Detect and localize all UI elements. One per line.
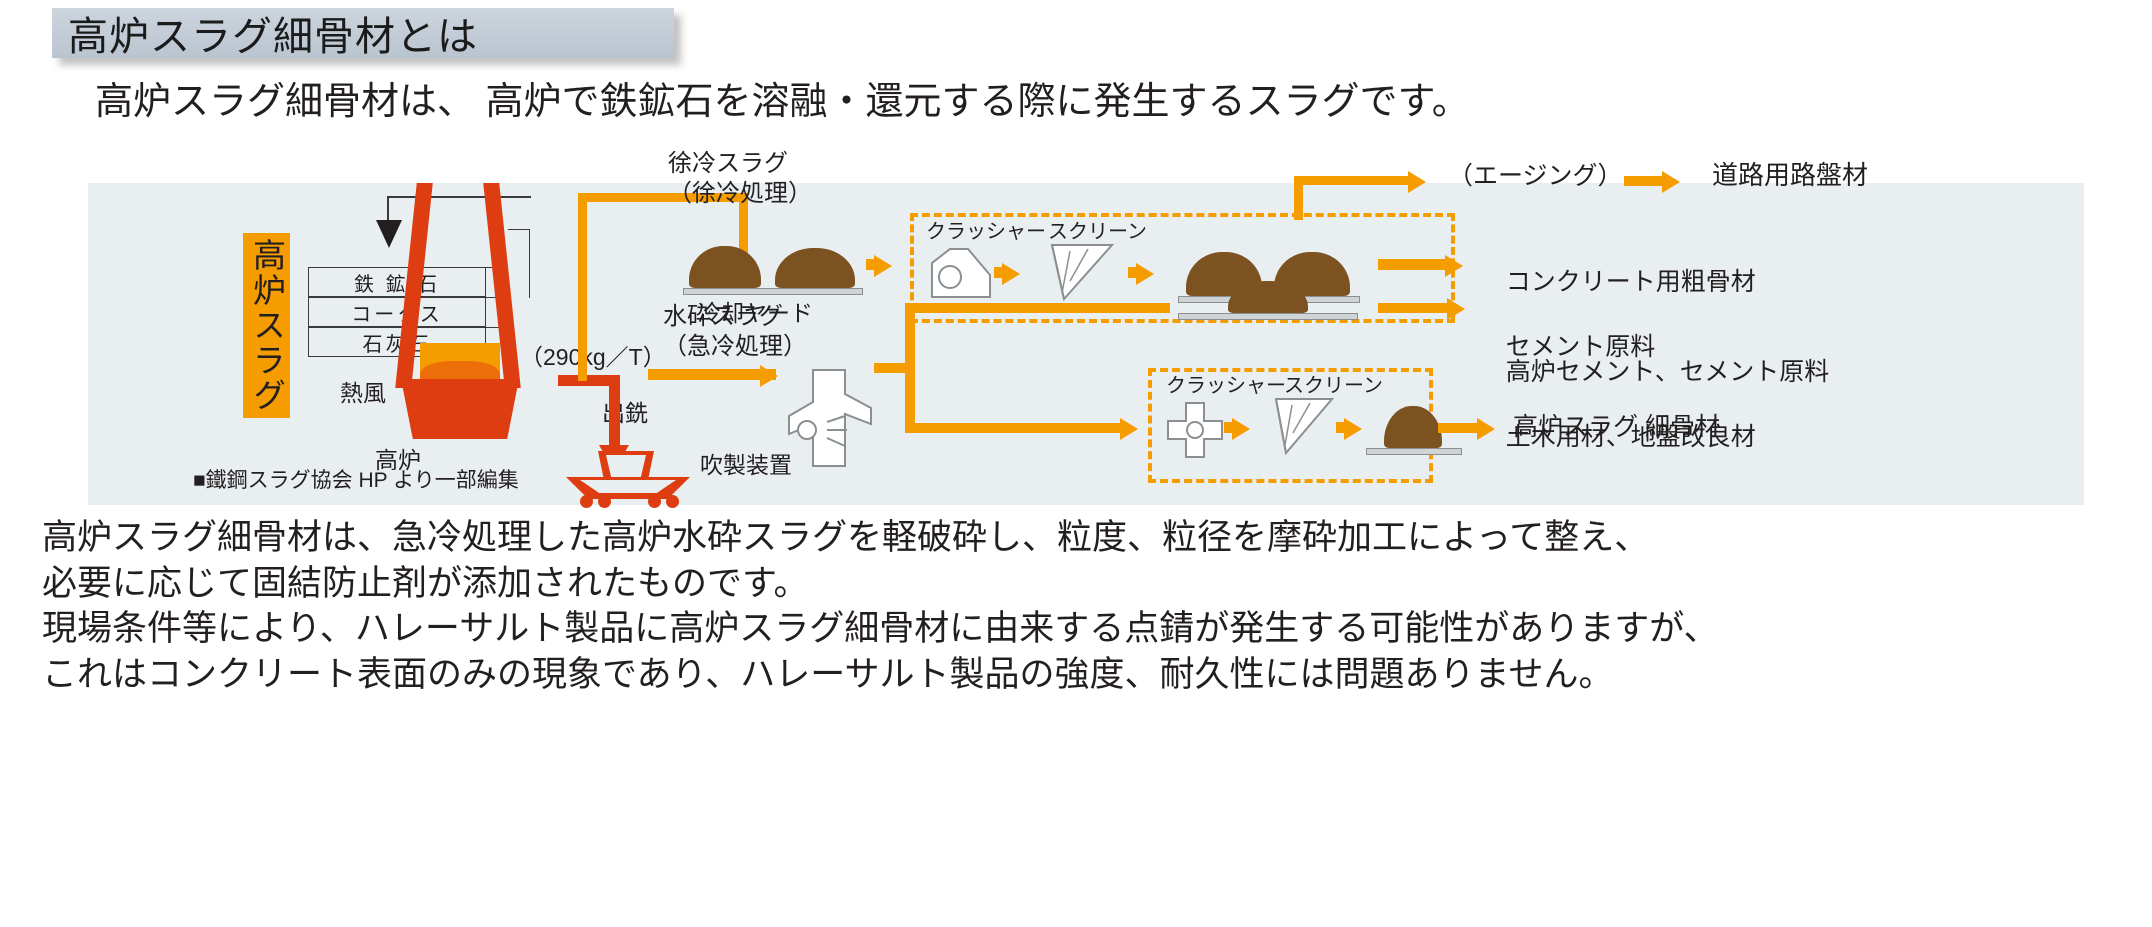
hot-blast-label: 熱風: [340, 379, 386, 409]
road-base-line: [1624, 176, 1666, 186]
output-blast-furnace-cement: 高炉セメント、セメント原料 土木用材、地盤改良材: [1478, 323, 1829, 486]
aging-label: （エージング）: [1448, 160, 1623, 193]
flow-arrow-icon: [1408, 171, 1426, 193]
cement-out-line: [1378, 303, 1450, 313]
output-road-base-material: 道路用路盤材: [1712, 159, 1868, 193]
blast-furnace-slag-label-box: 高炉スラグ: [243, 233, 290, 418]
flow-arrow-tail: [994, 267, 1008, 278]
flow-arrow-tail: [1224, 422, 1238, 433]
slow-cooled-slag-subtitle: （徐冷処理）: [668, 178, 812, 209]
water-granulated-title: 水砕スラグ: [663, 301, 783, 332]
body-line: 高炉スラグ細骨材は、急冷処理した高炉水砕スラグを軽破砕し、粒度、粒径を摩砕加工に…: [42, 515, 2102, 561]
body-line: これはコンクリート表面のみの現象であり、ハレーサルト製品の強度、耐久性には問題あ…: [42, 652, 2102, 698]
flow-arrow-tail: [1336, 422, 1350, 433]
page-title: 高炉スラグ細骨材とは: [52, 4, 478, 62]
yard-base: [1366, 448, 1462, 455]
body-line: 現場条件等により、ハレーサルト製品に高炉スラグ細骨材に由来する点錆が発生する可能…: [42, 606, 2102, 652]
flow-arrow-icon: [760, 365, 778, 387]
molten-surface: [420, 361, 500, 380]
subtitle-text: 高炉スラグ細骨材は、 高炉で鉄鉱石を溶融・還元する際に発生するスラグです。: [95, 70, 1470, 125]
flow-arrow-icon: [1662, 171, 1680, 193]
slow-cooled-slag-title: 徐冷スラグ: [668, 148, 788, 179]
body-line: 必要に応じて固結防止剤が添加されたものです。: [42, 561, 2102, 607]
blast-furnace-slag-label: 高炉スラグ: [243, 238, 291, 413]
cooling-yard: [683, 233, 863, 295]
ladle-wheel: [666, 495, 679, 508]
output-fine-aggregate: 高炉スラグ 細骨材: [1513, 411, 1720, 444]
flow-arrow-icon: [1477, 418, 1495, 440]
blow-granulation-device-icon: [783, 368, 878, 468]
mill-icon: [1166, 401, 1224, 459]
slag-mound: [689, 246, 761, 288]
yard-base: [683, 288, 863, 295]
flow-arrow-tail: [1128, 267, 1142, 278]
flow-arrow-icon: [1120, 418, 1138, 440]
crusher-icon: [928, 245, 994, 301]
blow-device-label: 吹製装置: [700, 451, 792, 481]
ladle-wheel: [598, 495, 611, 508]
process-flow-diagram: 高炉スラグ 鉄 鉱 石 コークス 石灰石 熱風 高炉 （290kg／T） 出銑: [88, 183, 2084, 505]
flow-arrow-icon: [1447, 298, 1465, 320]
coarse-aggregate-out-line: [1378, 259, 1448, 270]
blast-furnace-illustration: [398, 183, 523, 445]
yard-base: [1178, 313, 1358, 320]
furnace-hearth: [401, 379, 519, 439]
granulated-to-cement-line: [905, 303, 1170, 313]
flow-arrow-icon: [1445, 255, 1463, 277]
flow-arrow-tail: [866, 259, 880, 270]
source-credit: ■鐵鋼スラグ協会 HP より一部編集: [193, 464, 519, 494]
page-title-banner: 高炉スラグ細骨材とは: [52, 8, 674, 58]
body-text: 高炉スラグ細骨材は、急冷処理した高炉水砕スラグを軽破砕し、粒度、粒径を摩砕加工に…: [42, 515, 2102, 697]
ladle-wheel: [580, 495, 593, 508]
crusher-label: クラッシャー: [926, 219, 1046, 245]
screen-icon: [1274, 395, 1338, 457]
tap-line-vertical: [609, 375, 620, 450]
aging-line: [1294, 176, 1412, 185]
ladle-wheel: [648, 495, 661, 508]
slag-feed-riser: [578, 193, 587, 381]
granulated-split-riser: [905, 303, 915, 433]
slag-mound: [775, 248, 855, 288]
screen-icon: [1050, 241, 1120, 303]
slag-mound: [1384, 406, 1442, 448]
granulated-slag-stock: [1178, 278, 1358, 320]
slag-mound: [1228, 281, 1308, 313]
granulated-to-fine-line: [905, 423, 1125, 433]
tap-rate-label: （290kg／T）: [520, 343, 666, 373]
fine-aggregate-out-line: [1438, 423, 1480, 433]
charging-line-drop: [387, 196, 389, 221]
crusher-label: クラッシャー: [1166, 373, 1286, 399]
torpedo-ladle-car: [558, 451, 698, 505]
water-granulated-subtitle: （急冷処理）: [663, 331, 807, 362]
slag-to-blow-line: [648, 369, 776, 380]
